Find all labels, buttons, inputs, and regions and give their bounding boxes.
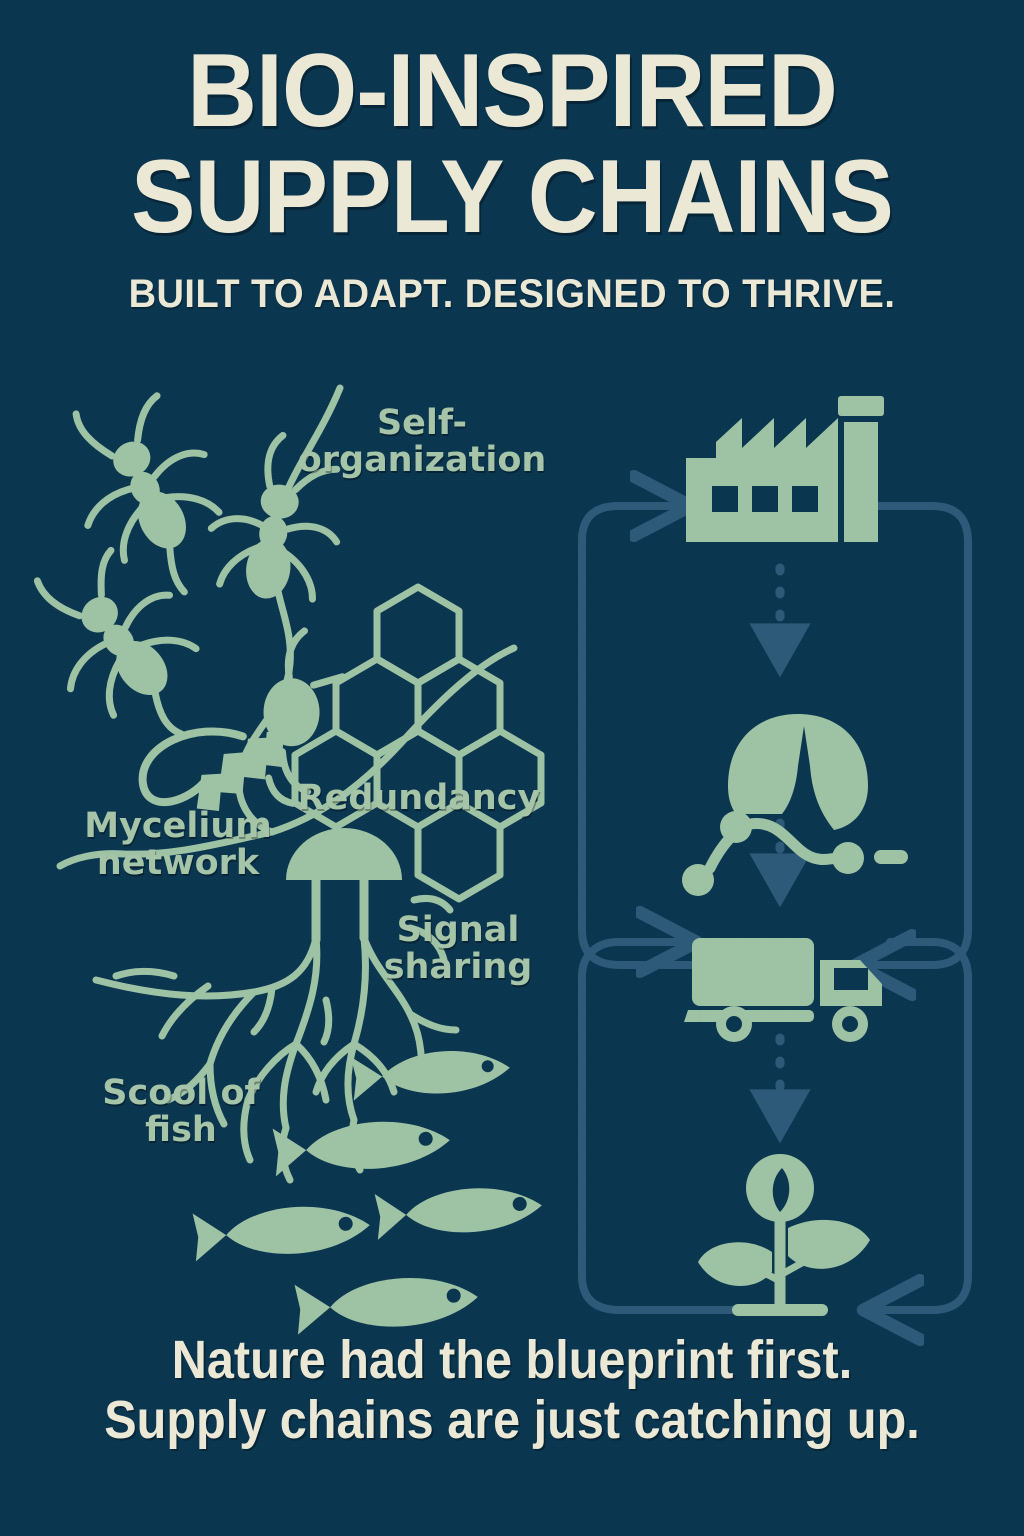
truck-icon — [684, 938, 882, 1042]
flow-diagram-svg — [560, 390, 1000, 1300]
supply-chain-flow-panel — [560, 390, 1000, 1300]
bio-label-mycelium-network: Mycelium network — [78, 808, 278, 882]
poster-header: BIO-INSPIRED SUPPLY CHAINS BUILT TO ADAP… — [0, 0, 1024, 317]
page-title-line-2: SUPPLY CHAINS — [36, 148, 988, 248]
poster-footer: Nature had the blueprint first. Supply c… — [0, 1330, 1024, 1451]
bio-label-redundancy: Redundancy — [290, 780, 548, 817]
bio-label-signal-sharing: Signal sharing — [378, 912, 538, 986]
bio-label-self-organization: Self- organization — [288, 405, 556, 479]
network-hub-icon — [682, 714, 908, 896]
factory-icon — [686, 396, 884, 542]
plant-sprout-icon — [698, 1154, 870, 1310]
connector-factory-to-hub — [860, 506, 968, 965]
connector-hub-to-factory — [582, 506, 720, 965]
page-subtitle: BUILT TO ADAPT. DESIGNED TO THRIVE. — [26, 272, 999, 317]
footer-line-2: Supply chains are just catching up. — [51, 1390, 973, 1450]
footer-line-1: Nature had the blueprint first. — [51, 1330, 973, 1390]
page-title-line-1: BIO-INSPIRED — [36, 42, 988, 142]
bio-label-school-of-fish: Scool of fish — [90, 1075, 272, 1149]
connector-truck-to-sprout — [868, 942, 968, 1310]
